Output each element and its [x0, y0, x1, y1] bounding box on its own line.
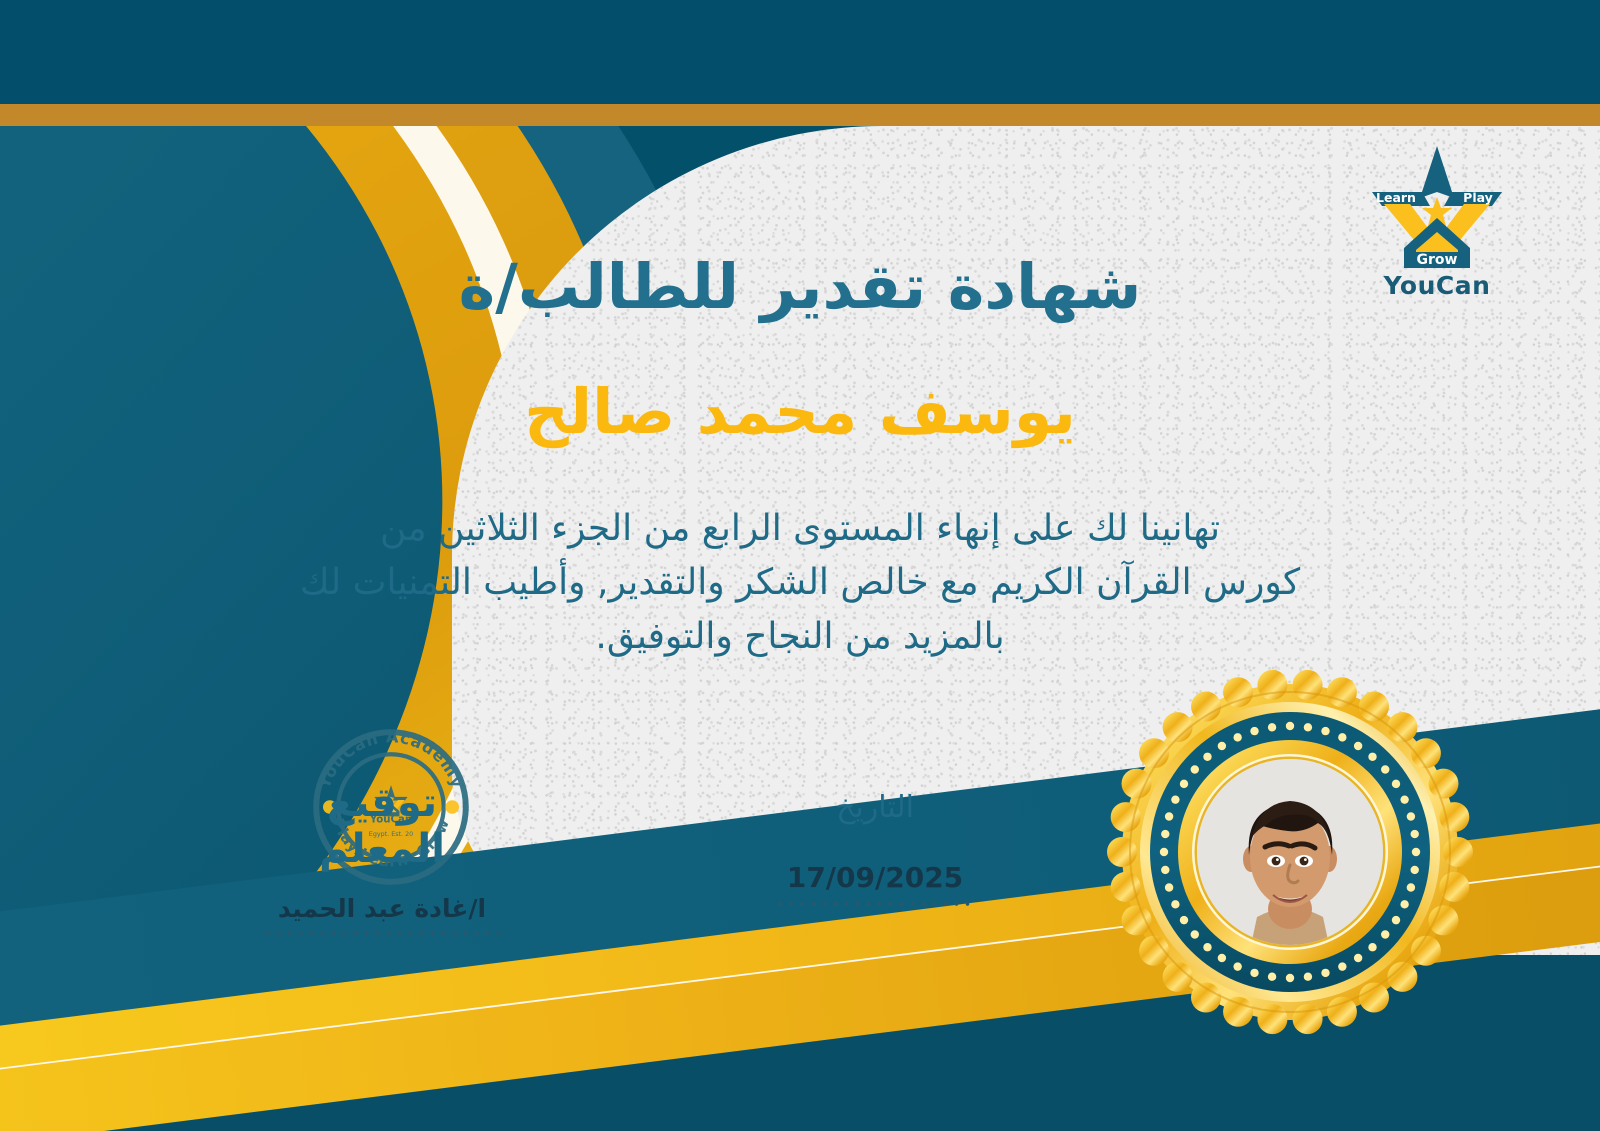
signature-name: ا/غادة عبد الحميد: [262, 894, 502, 923]
date-block: التاريخ 17/09/2025: [775, 790, 975, 906]
date-value: 17/09/2025: [775, 861, 975, 894]
certificate-body: تهانينا لك على إنهاء المستوى الرابع من ا…: [190, 502, 1410, 664]
student-photo-medallion: [1090, 652, 1490, 1052]
top-gold-rule: [0, 104, 1600, 126]
body-line-1: تهانينا لك على إنهاء المستوى الرابع من ا…: [190, 502, 1410, 556]
date-label: التاريخ: [775, 790, 975, 825]
signature-dotted-line: [262, 931, 502, 935]
star-label-learn: Learn: [1376, 190, 1416, 205]
certificate-canvas: Grow Learn Play YouCan شهادة تقدير للطال…: [0, 0, 1600, 1131]
student-photo: [1197, 759, 1383, 945]
signature-block: توقيع المعلم ا/غادة عبد الحميد: [262, 780, 502, 935]
certificate-title: شهادة تقدير للطالب/ة: [0, 250, 1600, 323]
student-portrait-illustration: [1197, 759, 1383, 945]
body-line-2: كورس القرآن الكريم مع خالص الشكر والتقدي…: [190, 556, 1410, 610]
date-dotted-line: [775, 902, 975, 906]
signature-label: توقيع المعلم: [262, 780, 502, 872]
top-dark-band: [0, 0, 1600, 104]
star-label-play: Play: [1463, 190, 1493, 205]
recipient-name: يوسف محمد صالح: [0, 375, 1600, 448]
